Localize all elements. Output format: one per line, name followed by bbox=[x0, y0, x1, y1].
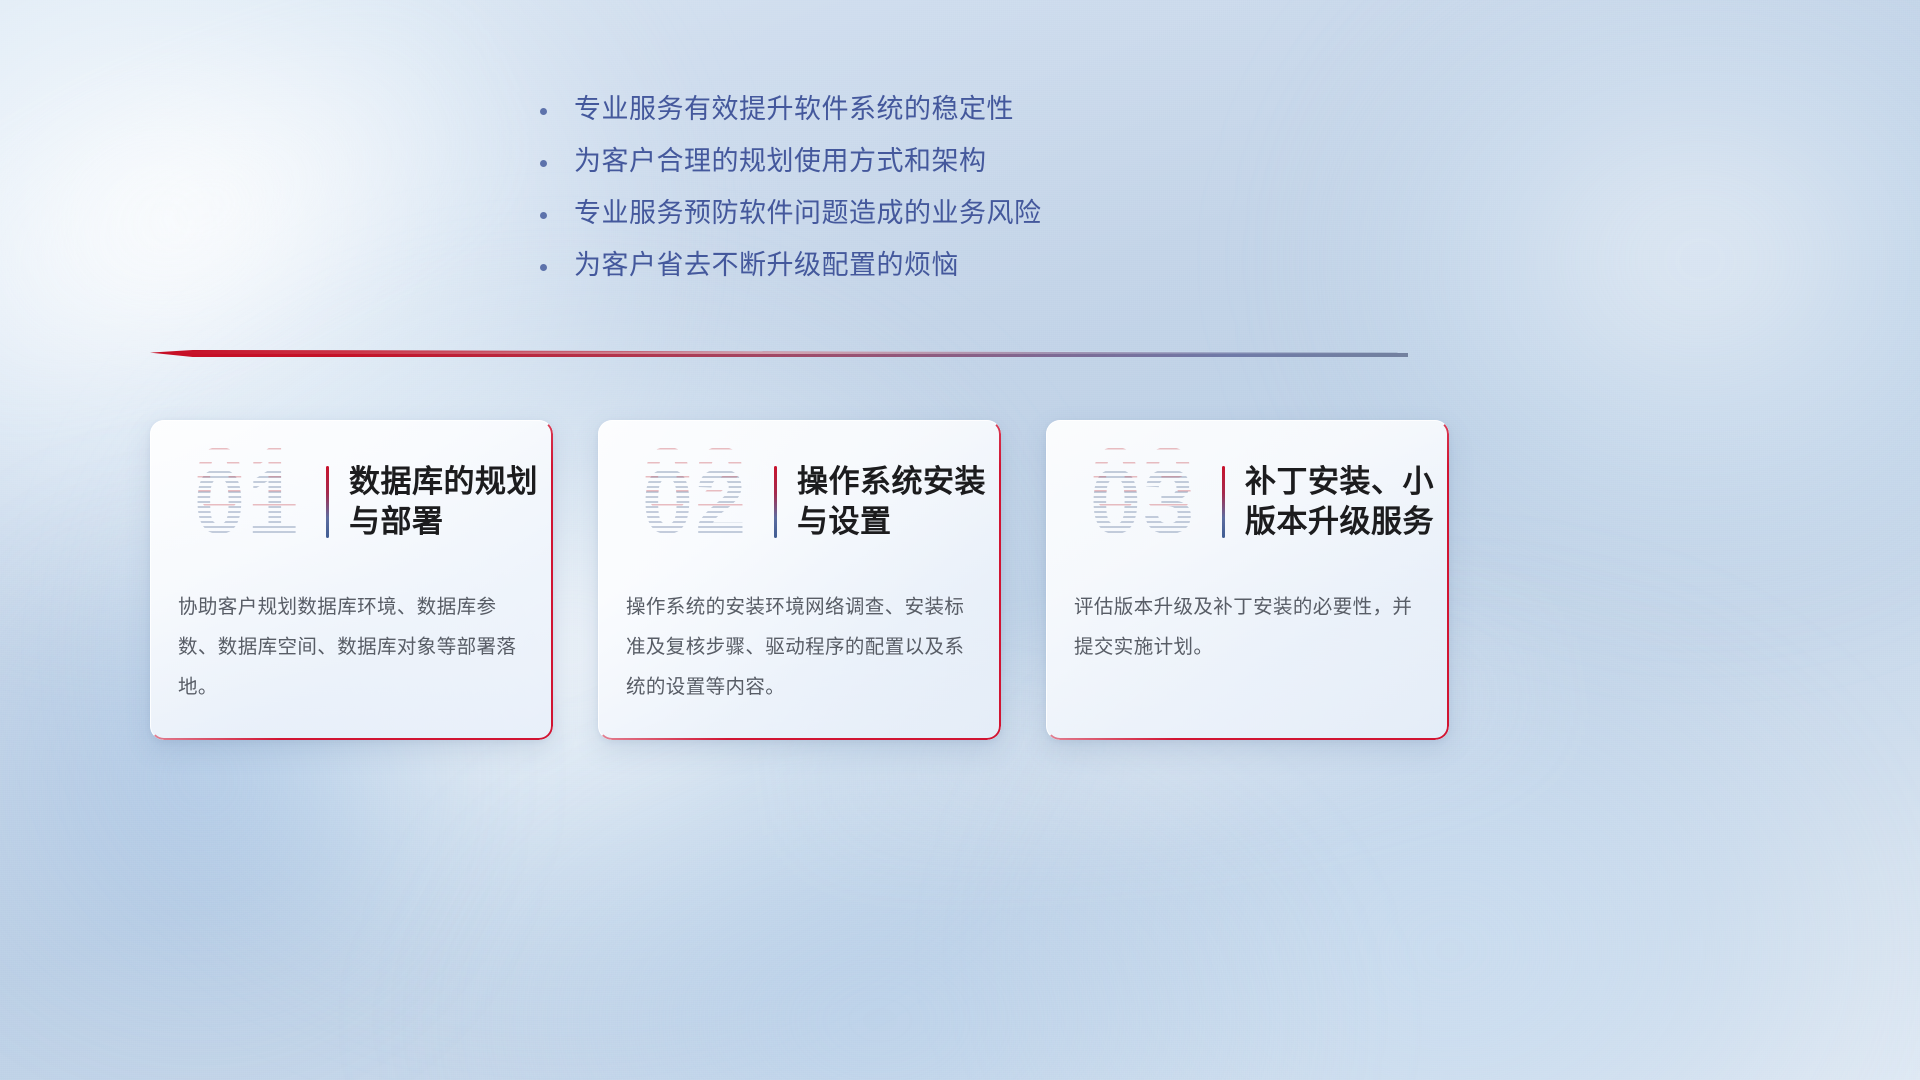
section-divider bbox=[150, 350, 1408, 362]
card-header: 01 01 数据库的规划 与部署 bbox=[150, 434, 553, 570]
bullet-dot-icon bbox=[540, 253, 574, 275]
list-item: 专业服务预防软件问题造成的业务风险 bbox=[540, 196, 1160, 248]
bullet-dot-icon bbox=[540, 97, 574, 119]
bullet-text: 专业服务预防软件问题造成的业务风险 bbox=[574, 196, 1042, 231]
service-card[interactable]: 01 01 数据库的规划 与部署 协助客户规划数据库环境、数据库参数、数据库空间… bbox=[150, 420, 553, 740]
service-card[interactable]: 03 03 补丁安装、小 版本升级服务 评估版本升级及补丁安装的必要性，并提交实… bbox=[1046, 420, 1449, 740]
benefits-bullet-list: 专业服务有效提升软件系统的稳定性 为客户合理的规划使用方式和架构 专业服务预防软… bbox=[540, 92, 1160, 300]
list-item: 为客户合理的规划使用方式和架构 bbox=[540, 144, 1160, 196]
card-number: 02 bbox=[620, 456, 770, 548]
card-header: 03 03 补丁安装、小 版本升级服务 bbox=[1046, 434, 1449, 570]
card-body-text: 协助客户规划数据库环境、数据库参数、数据库空间、数据库对象等部署落地。 bbox=[178, 588, 527, 708]
list-item: 为客户省去不断升级配置的烦恼 bbox=[540, 248, 1160, 300]
divider-highlight bbox=[175, 351, 1383, 354]
bullet-text: 为客户合理的规划使用方式和架构 bbox=[574, 144, 987, 179]
bullet-text: 为客户省去不断升级配置的烦恼 bbox=[574, 248, 959, 283]
service-card[interactable]: 02 02 操作系统安装 与设置 操作系统的安装环境网络调查、安装标准及复核步骤… bbox=[598, 420, 1001, 740]
service-card-group: 01 01 数据库的规划 与部署 协助客户规划数据库环境、数据库参数、数据库空间… bbox=[150, 420, 1450, 740]
card-header: 02 02 操作系统安装 与设置 bbox=[598, 434, 1001, 570]
bullet-text: 专业服务有效提升软件系统的稳定性 bbox=[574, 92, 1014, 127]
card-number: 03 bbox=[1068, 456, 1218, 548]
card-divider-rule bbox=[326, 466, 329, 538]
card-title: 补丁安装、小 版本升级服务 bbox=[1245, 462, 1434, 541]
bullet-dot-icon bbox=[540, 201, 574, 223]
card-title: 数据库的规划 与部署 bbox=[349, 462, 538, 541]
card-divider-rule bbox=[1222, 466, 1225, 538]
bullet-dot-icon bbox=[540, 149, 574, 171]
card-title: 操作系统安装 与设置 bbox=[797, 462, 986, 541]
card-number: 01 bbox=[172, 456, 322, 548]
card-body-text: 操作系统的安装环境网络调查、安装标准及复核步骤、驱动程序的配置以及系统的设置等内… bbox=[626, 588, 975, 708]
card-body-text: 评估版本升级及补丁安装的必要性，并提交实施计划。 bbox=[1074, 588, 1423, 668]
list-item: 专业服务有效提升软件系统的稳定性 bbox=[540, 92, 1160, 144]
card-divider-rule bbox=[774, 466, 777, 538]
